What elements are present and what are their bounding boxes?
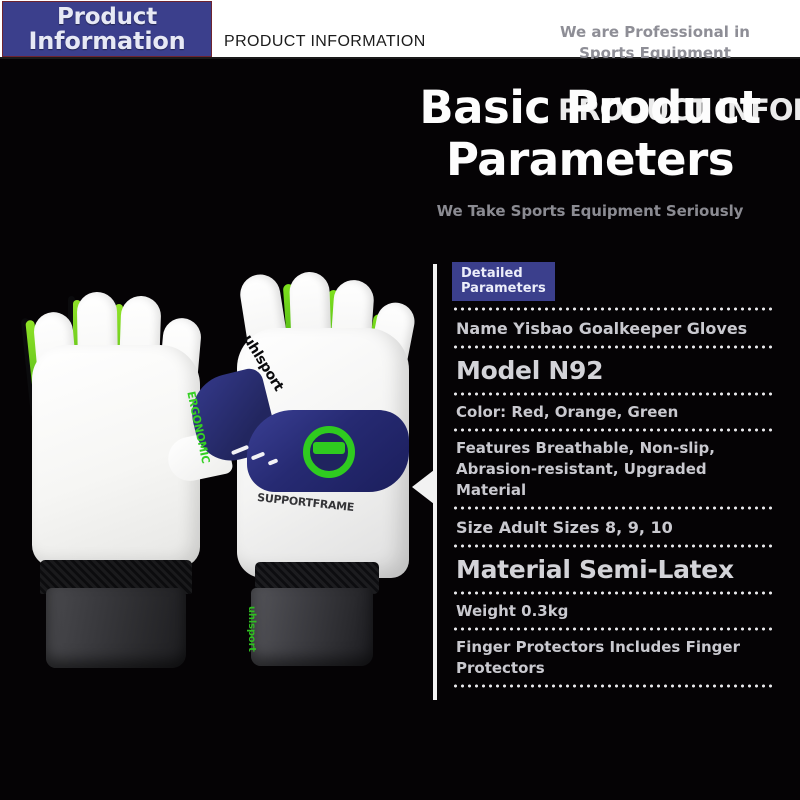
spec-dotted-divider <box>452 544 772 548</box>
spec-row: Name Yisbao Goalkeeper Gloves <box>452 317 772 340</box>
spec-dotted-divider <box>452 591 772 595</box>
page-header: Product Information PRODUCT INFORMATION … <box>0 0 800 59</box>
glove-left-cuff-strap <box>46 588 186 668</box>
detailed-parameters-badge-line1: Detailed <box>461 266 546 281</box>
glove-right-cuff-strap <box>251 588 373 666</box>
header-tagline: We are Professional in Sports Equipment <box>530 22 780 59</box>
detailed-parameters-panel: Detailed Parameters Name Yisbao Goalkeep… <box>452 262 772 694</box>
product-information-page: Product Information PRODUCT INFORMATION … <box>0 0 800 800</box>
spec-dotted-divider <box>452 627 772 631</box>
spec-row: Color: Red, Orange, Green <box>452 402 772 423</box>
spec-row: Model N92 <box>452 355 772 387</box>
title-block: PRODUCT INFORMATION Basic Product Parame… <box>390 82 790 212</box>
spec-row: Size Adult Sizes 8, 9, 10 <box>452 516 772 539</box>
spec-row: Finger Protectors Includes Finger Protec… <box>452 637 772 679</box>
detailed-parameters-badge: Detailed Parameters <box>452 262 555 301</box>
spec-dotted-divider <box>452 684 772 688</box>
spec-row: Features Breathable, Non-slip, Abrasion-… <box>452 438 772 501</box>
page-title: Basic Product Parameters <box>390 82 790 186</box>
panel-pointer-arrow-icon <box>412 470 434 504</box>
spec-dotted-divider <box>452 345 772 349</box>
detailed-parameters-badge-line2: Parameters <box>461 281 546 296</box>
uhlsport-logo-bar <box>313 442 345 454</box>
glove-right-back: uhlsport ERGONOMIC SUPPORTFRAME uhlsport <box>195 258 425 698</box>
spec-row: Material Semi-Latex <box>452 554 772 586</box>
page-subtitle: We Take Sports Equipment Seriously <box>390 202 790 220</box>
header-badge-line2: Information <box>28 29 185 53</box>
header-brand-badge: Product Information <box>2 1 212 57</box>
spec-dotted-divider <box>452 506 772 510</box>
spec-dotted-divider <box>452 428 772 432</box>
spec-rows-container: Name Yisbao Goalkeeper GlovesModel N92Co… <box>452 317 772 688</box>
product-photo: uhlsport ERGONOMIC SUPPORTFRAME uhlsport <box>0 240 420 710</box>
spec-dotted-divider <box>452 307 772 311</box>
glove-cuff-brand-text: uhlsport <box>246 606 257 652</box>
header-subtitle: PRODUCT INFORMATION <box>224 33 426 51</box>
header-badge-line1: Product <box>57 5 157 29</box>
spec-dotted-divider <box>452 392 772 396</box>
spec-row: Weight 0.3kg <box>452 601 772 622</box>
